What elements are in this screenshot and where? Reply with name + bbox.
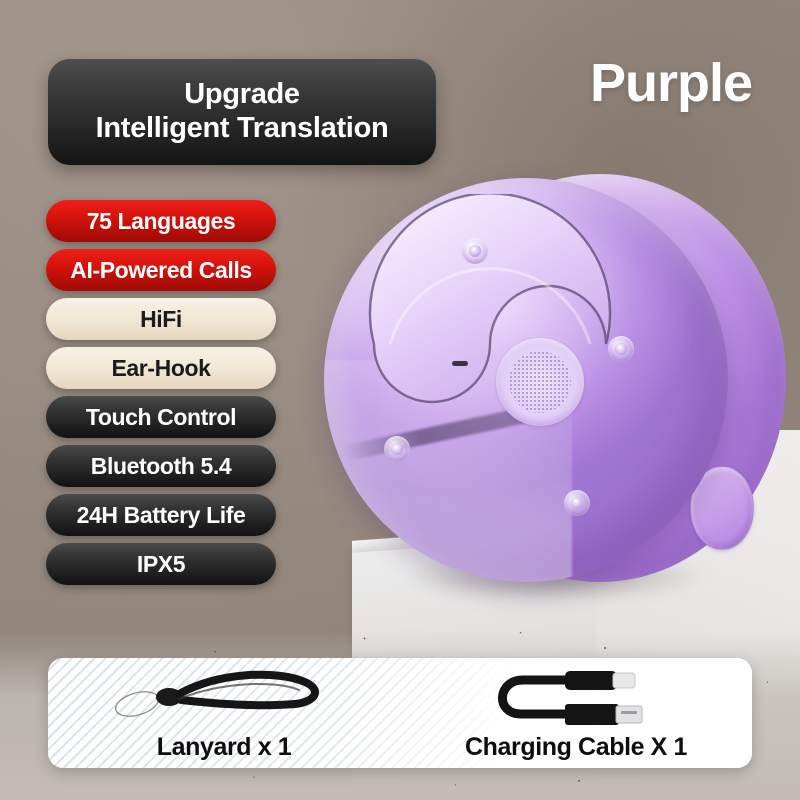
screw-icon [384,436,410,462]
led-indicator-slot [452,361,468,366]
screw-icon [608,336,634,362]
feature-pill-battery-life: 24H Battery Life [46,494,276,536]
lanyard-icon [109,666,339,728]
accessory-label-lanyard: Lanyard x 1 [157,733,292,762]
product-image [318,168,788,624]
header-badge-line2: Intelligent Translation [96,112,389,146]
feature-pill-touch-control: Touch Control [46,396,276,438]
speaker-mesh [509,351,571,413]
feature-pill-ipx5: IPX5 [46,543,276,585]
header-badge: Upgrade Intelligent Translation [48,59,436,165]
usb-cable-icon [461,666,691,728]
feature-pill-list: 75 Languages AI-Powered Calls HiFi Ear-H… [46,200,276,585]
feature-pill-ear-hook: Ear-Hook [46,347,276,389]
case-body [324,178,728,582]
accessory-item-charging-cable: Charging Cable X 1 [400,658,752,768]
screw-icon [564,490,590,516]
feature-pill-ai-calls: AI-Powered Calls [46,249,276,291]
speaker-grille-icon [496,338,584,426]
product-marketing-image: Upgrade Intelligent Translation Purple 7… [0,0,800,800]
feature-pill-hifi: HiFi [46,298,276,340]
header-badge-line1: Upgrade [184,78,300,112]
feature-pill-languages: 75 Languages [46,200,276,242]
color-title: Purple [590,52,752,114]
screw-icon [462,238,488,264]
feature-pill-bluetooth: Bluetooth 5.4 [46,445,276,487]
accessory-label-charging-cable: Charging Cable X 1 [465,733,687,762]
accessories-panel: Lanyard x 1 Charging Cable X 1 [48,658,752,768]
accessory-item-lanyard: Lanyard x 1 [48,658,400,768]
